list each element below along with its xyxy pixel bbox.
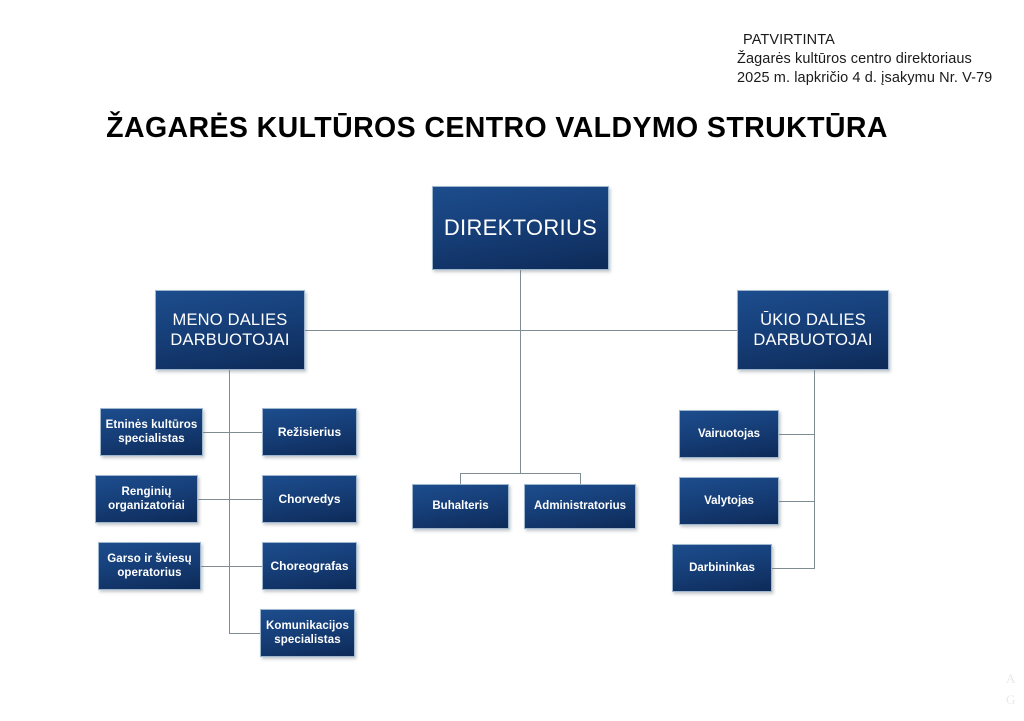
approval-line-1: PATVIRTINTA	[737, 31, 1024, 50]
node-vairuotojas[interactable]: Vairuotojas	[679, 410, 779, 458]
approval-block: PATVIRTINTA Žagarės kultūros centro dire…	[737, 31, 1024, 88]
connector-art-rung-2	[198, 499, 263, 500]
node-administratorius[interactable]: Administratorius	[524, 484, 636, 529]
corner-watermark-line-2: G	[1006, 689, 1015, 710]
node-meno-dalies-darbuotojai[interactable]: MENO DALIES DARBUOTOJAI	[155, 290, 305, 370]
node-meno-dalies-label: MENO DALIES DARBUOTOJAI	[156, 310, 304, 350]
approval-line-2: Žagarės kultūros centro direktoriaus	[737, 50, 1024, 69]
connector-econ-rung-2	[778, 501, 815, 502]
node-etnines-kulturos-specialistas-label: Etninės kultūros specialistas	[101, 418, 202, 446]
node-choreografas[interactable]: Choreografas	[262, 542, 357, 590]
node-buhalteris-label: Buhalteris	[428, 499, 492, 513]
corner-watermark: A G	[1006, 668, 1015, 710]
connector-art-rung-4	[229, 633, 262, 634]
connector-branch-spine	[305, 330, 737, 331]
connector-art-rung-1	[203, 432, 263, 433]
connector-center-right-drop	[580, 473, 581, 484]
node-rezisierius[interactable]: Režisierius	[262, 408, 357, 456]
node-renginiu-organizatoriai-label: Renginių organizatoriai	[96, 485, 197, 513]
node-darbininkas-label: Darbininkas	[685, 561, 759, 575]
node-renginiu-organizatoriai[interactable]: Renginių organizatoriai	[95, 475, 198, 523]
node-direktorius-label: DIREKTORIUS	[440, 215, 601, 242]
node-komunikacijos-specialistas-label: Komunikacijos specialistas	[261, 619, 354, 647]
connector-root-vertical	[520, 270, 521, 474]
node-garso-ir-sviesu-operatorius[interactable]: Garso ir šviesų operatorius	[98, 542, 201, 590]
node-garso-ir-sviesu-operatorius-label: Garso ir šviesų operatorius	[99, 552, 200, 580]
node-choreografas-label: Choreografas	[266, 559, 352, 574]
node-ukio-dalies-darbuotojai[interactable]: ŪKIO DALIES DARBUOTOJAI	[737, 290, 889, 370]
approval-line-3: 2025 m. lapkričio 4 d. įsakymu Nr. V-79	[737, 69, 1024, 88]
connector-art-trunk	[229, 370, 230, 634]
node-valytojas[interactable]: Valytojas	[679, 477, 779, 525]
node-komunikacijos-specialistas[interactable]: Komunikacijos specialistas	[260, 609, 355, 657]
node-chorvedys-label: Chorvedys	[274, 492, 344, 507]
corner-watermark-line-1: A	[1006, 668, 1015, 689]
node-buhalteris[interactable]: Buhalteris	[412, 484, 509, 529]
node-rezisierius-label: Režisierius	[274, 425, 345, 440]
node-ukio-dalies-label: ŪKIO DALIES DARBUOTOJAI	[738, 310, 888, 350]
connector-econ-rung-3	[771, 568, 815, 569]
node-darbininkas[interactable]: Darbininkas	[672, 544, 772, 592]
connector-econ-rung-1	[778, 434, 815, 435]
node-valytojas-label: Valytojas	[700, 494, 758, 508]
connector-center-tbar	[460, 473, 581, 474]
org-chart-page: PATVIRTINTA Žagarės kultūros centro dire…	[0, 0, 1024, 721]
node-etnines-kulturos-specialistas[interactable]: Etninės kultūros specialistas	[100, 408, 203, 456]
page-title: ŽAGARĖS KULTŪROS CENTRO VALDYMO STRUKTŪR…	[0, 112, 1024, 145]
node-administratorius-label: Administratorius	[530, 499, 630, 513]
node-direktorius[interactable]: DIREKTORIUS	[432, 186, 609, 270]
connector-econ-trunk	[814, 370, 815, 568]
connector-art-rung-3	[201, 566, 263, 567]
connector-center-left-drop	[460, 473, 461, 484]
node-vairuotojas-label: Vairuotojas	[694, 427, 764, 441]
node-chorvedys[interactable]: Chorvedys	[262, 475, 357, 523]
